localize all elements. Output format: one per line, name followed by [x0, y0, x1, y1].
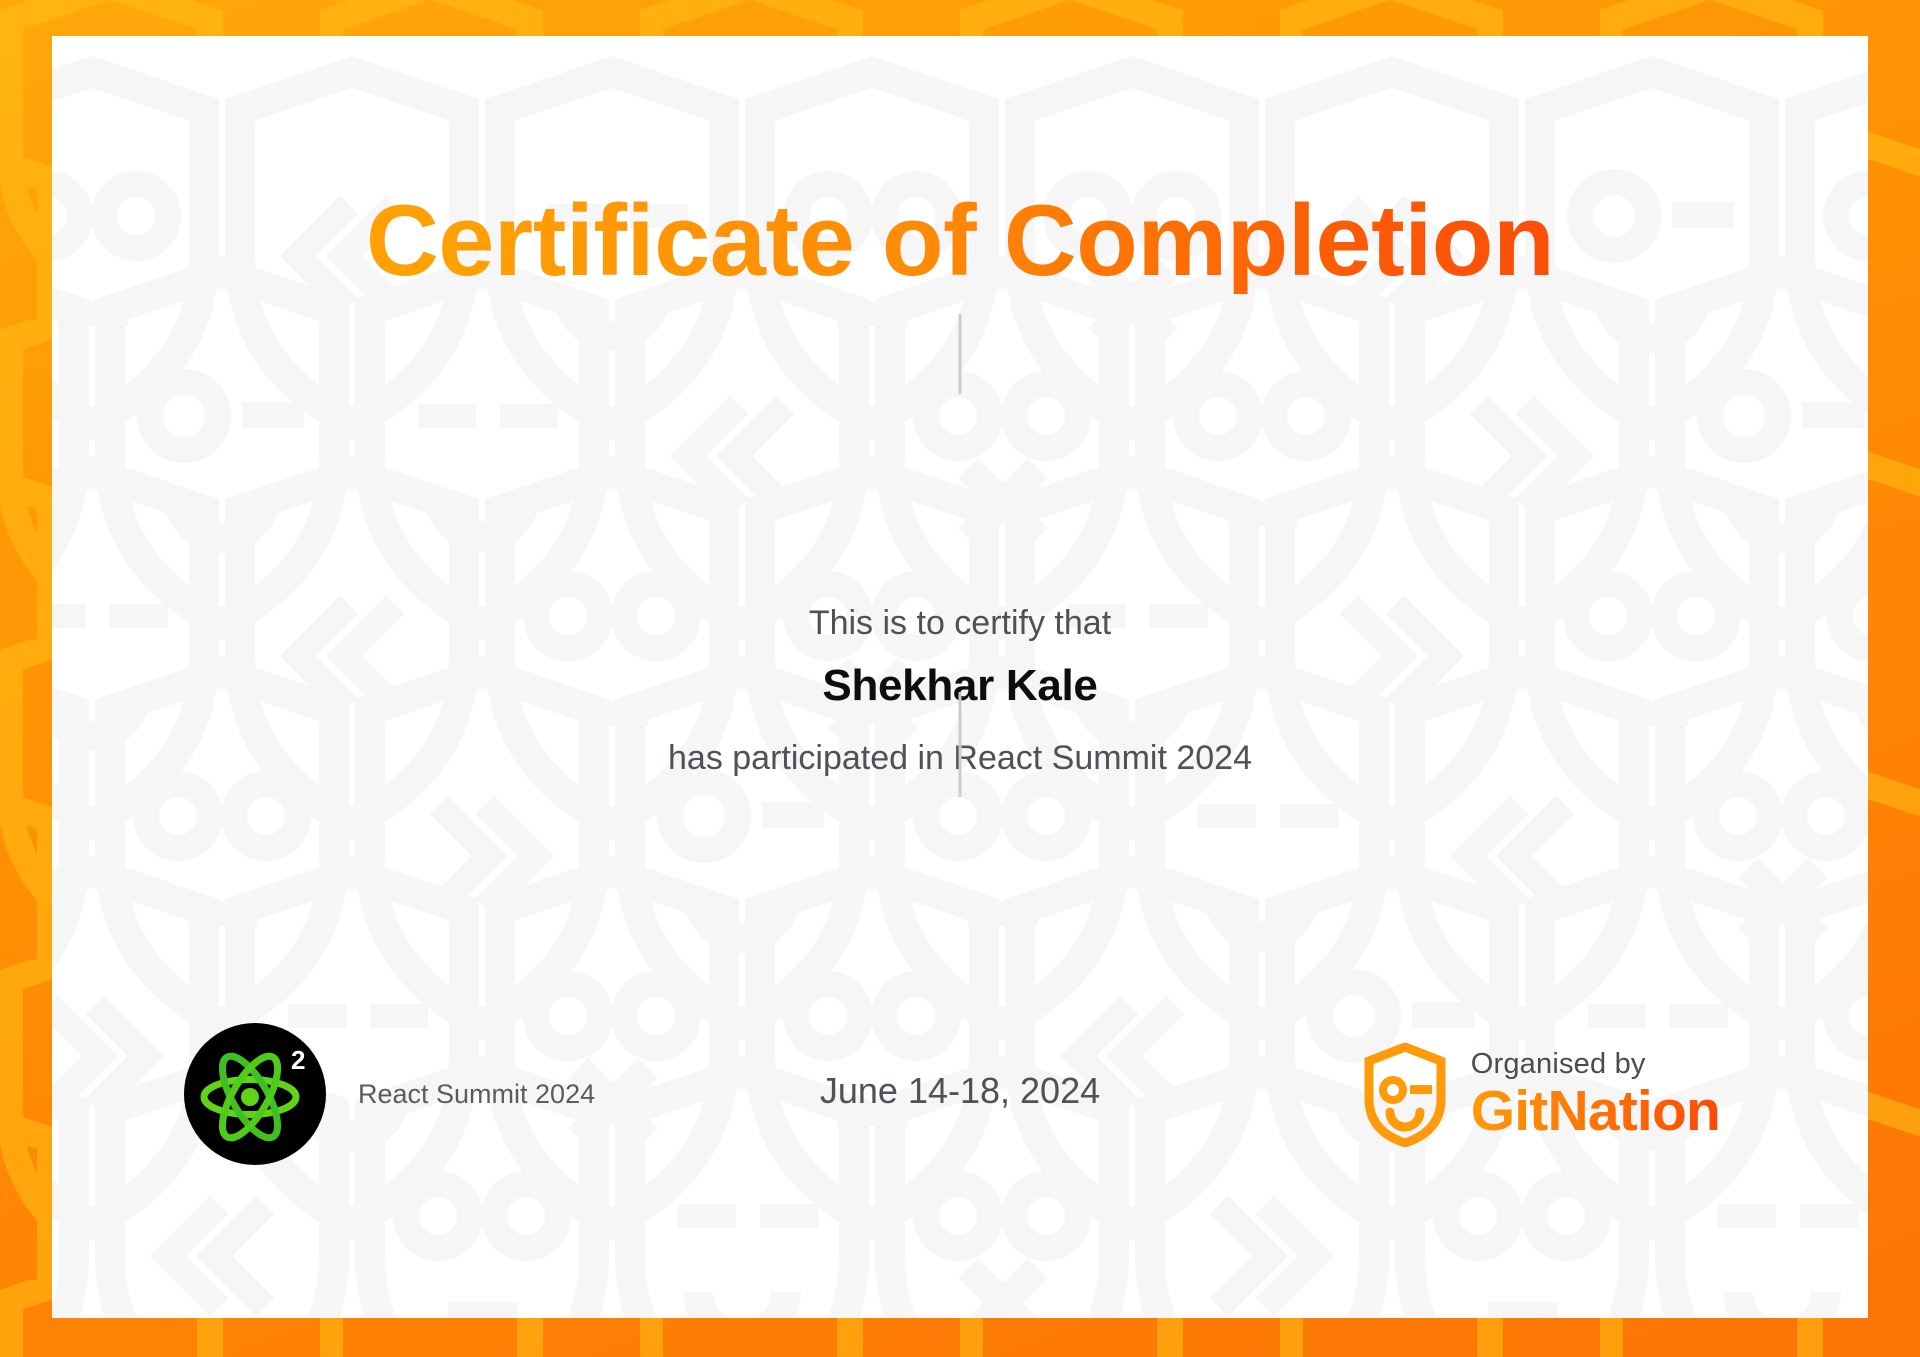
- page-title: Certificate of Completion: [52, 188, 1868, 294]
- certificate-page: Certificate of Completion This is to cer…: [0, 0, 1920, 1357]
- certificate-card: Certificate of Completion This is to cer…: [52, 36, 1868, 1318]
- organised-by-label: Organised by: [1471, 1050, 1720, 1080]
- certify-line: This is to certify that: [52, 604, 1868, 643]
- gitnation-shield-wink-icon: [1363, 1043, 1447, 1147]
- organiser-name: GitNation: [1471, 1082, 1720, 1140]
- divider-bottom: [959, 692, 962, 797]
- divider-top: [959, 314, 962, 394]
- organiser-block: Organised by GitNation: [1363, 1043, 1720, 1147]
- certificate-footer: 2 React Summit 2024 June 14-18, 2024: [52, 1011, 1868, 1191]
